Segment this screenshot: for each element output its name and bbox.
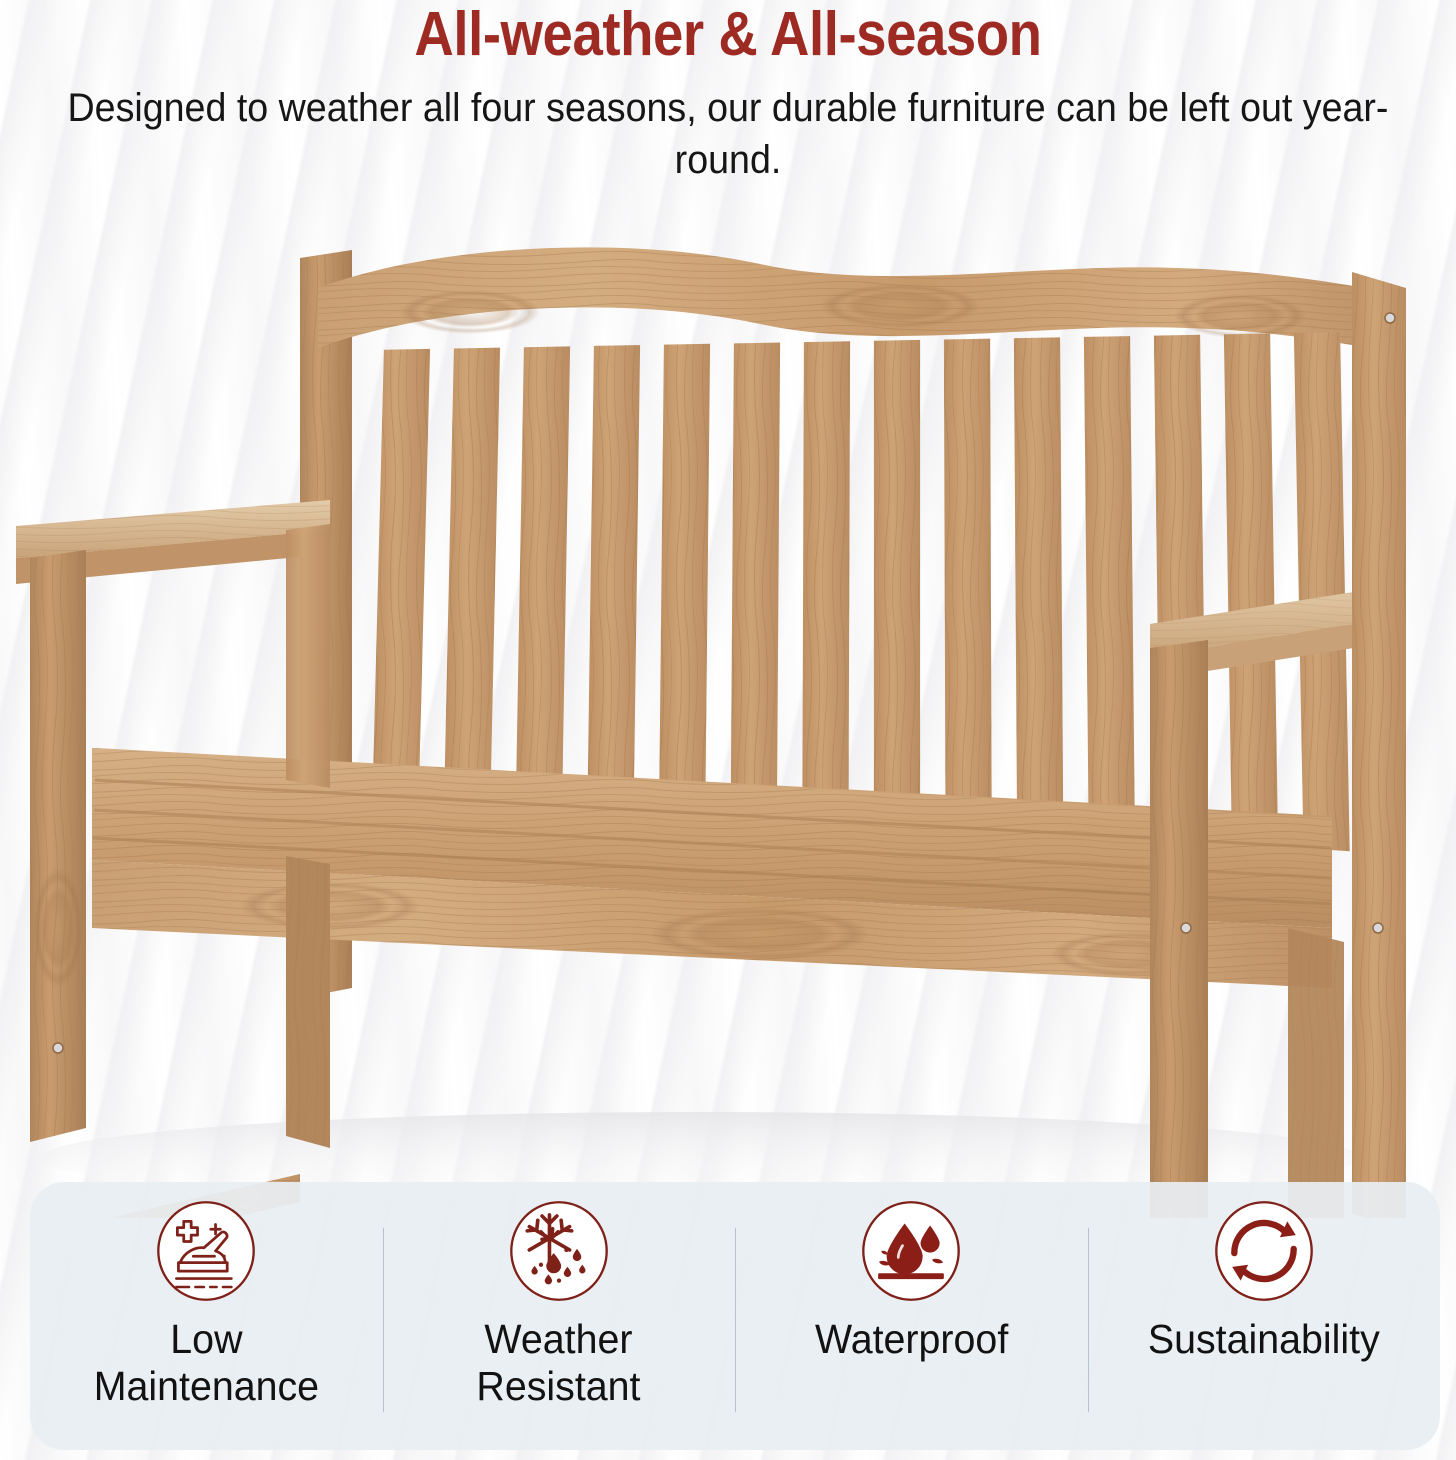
back-slat	[1014, 337, 1063, 833]
recycle-arrows-icon	[1211, 1198, 1317, 1304]
cleaning-hand-icon	[153, 1198, 259, 1304]
back-slat	[802, 341, 850, 819]
water-droplet-icon	[858, 1198, 964, 1304]
feature-label: Waterproof	[815, 1316, 1008, 1363]
feature-weather-resistant: Weather Resistant	[383, 1182, 736, 1450]
feature-label: Weather Resistant	[477, 1316, 641, 1410]
feature-highlights-card: Low Maintenance	[30, 1182, 1440, 1450]
page-title: All-weather & All-season	[87, 2, 1368, 68]
back-slat	[516, 346, 570, 801]
feature-low-maintenance: Low Maintenance	[30, 1182, 383, 1450]
feature-label: Low Maintenance	[94, 1316, 319, 1410]
snowflake-rain-icon	[506, 1198, 612, 1304]
back-slat	[659, 344, 710, 810]
product-feature-banner: All-weather & All-season Designed to wea…	[0, 0, 1456, 1460]
screw-head	[53, 1043, 63, 1053]
back-slat	[1224, 334, 1278, 847]
back-slat	[1294, 332, 1350, 851]
back-slat	[1084, 336, 1135, 837]
back-slat	[444, 348, 500, 797]
back-slat	[588, 345, 641, 805]
feature-label: Sustainability	[1148, 1316, 1380, 1363]
back-slat	[373, 349, 430, 792]
feature-sustainability: Sustainability	[1088, 1182, 1441, 1450]
page-subtitle: Designed to weather all four seasons, ou…	[44, 82, 1413, 186]
back-slat	[944, 339, 992, 829]
bench-illustration	[0, 228, 1456, 1218]
screw-head	[1385, 313, 1395, 323]
screw-head	[1181, 923, 1191, 933]
back-slat	[874, 340, 920, 824]
back-slat	[731, 343, 780, 815]
product-image	[0, 228, 1456, 1218]
back-right-post	[1352, 272, 1406, 1218]
header: All-weather & All-season Designed to wea…	[0, 0, 1456, 186]
feature-waterproof: Waterproof	[735, 1182, 1088, 1450]
screw-head	[1373, 923, 1383, 933]
